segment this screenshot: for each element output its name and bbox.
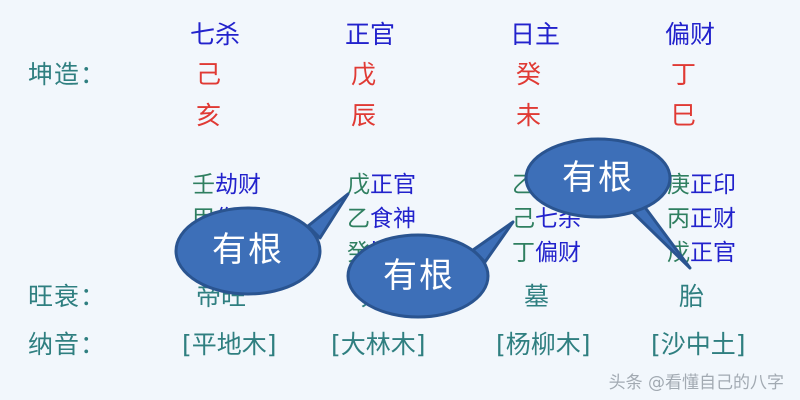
bazi-chart-canvas: 坤造： 旺衰： 纳音： 七杀 己 亥 壬劫财 甲伤官 帝旺 [平地木] 正官 戊… bbox=[0, 0, 800, 400]
annotation-label-0: 有根 bbox=[170, 233, 326, 267]
pillar-1-heavenly-stem: 戊 bbox=[351, 62, 376, 87]
annotation-bubble-1[interactable]: 有根 bbox=[345, 218, 530, 326]
watermark: 头条 @看懂自己的八字 bbox=[609, 375, 784, 392]
pillar-3-vigor: 胎 bbox=[679, 284, 704, 309]
pillar-2-earthly-branch: 未 bbox=[516, 103, 541, 128]
annotation-bubble-0[interactable]: 有根 bbox=[170, 188, 360, 300]
pillar-1-earthly-branch: 辰 bbox=[351, 103, 376, 128]
pillar-3-heavenly-stem: 丁 bbox=[671, 62, 696, 87]
pillar-2-ten-god: 日主 bbox=[510, 22, 560, 47]
pillar-2-nayin: [杨柳木] bbox=[496, 332, 591, 357]
pillar-3-ten-god: 偏财 bbox=[665, 22, 715, 47]
annotation-label-2: 有根 bbox=[520, 161, 676, 195]
annotation-bubble-2[interactable]: 有根 bbox=[520, 136, 720, 286]
row-label-vigor: 旺衰： bbox=[28, 284, 106, 309]
pillar-0-nayin: [平地木] bbox=[182, 332, 277, 357]
hidden-stem-god: 正官 bbox=[370, 172, 416, 198]
pillar-3-earthly-branch: 巳 bbox=[671, 103, 696, 128]
pillar-0-heavenly-stem: 己 bbox=[196, 62, 221, 87]
annotation-label-1: 有根 bbox=[345, 259, 493, 293]
row-label-chart-type: 坤造： bbox=[28, 62, 106, 87]
pillar-0-earthly-branch: 亥 bbox=[196, 103, 221, 128]
pillar-2-heavenly-stem: 癸 bbox=[516, 62, 541, 87]
pillar-0-ten-god: 七杀 bbox=[190, 22, 240, 47]
row-label-nayin: 纳音： bbox=[28, 332, 106, 357]
pillar-1-nayin: [大林木] bbox=[331, 332, 426, 357]
pillar-1-ten-god: 正官 bbox=[345, 22, 395, 47]
pillar-3-nayin: [沙中土] bbox=[651, 332, 746, 357]
